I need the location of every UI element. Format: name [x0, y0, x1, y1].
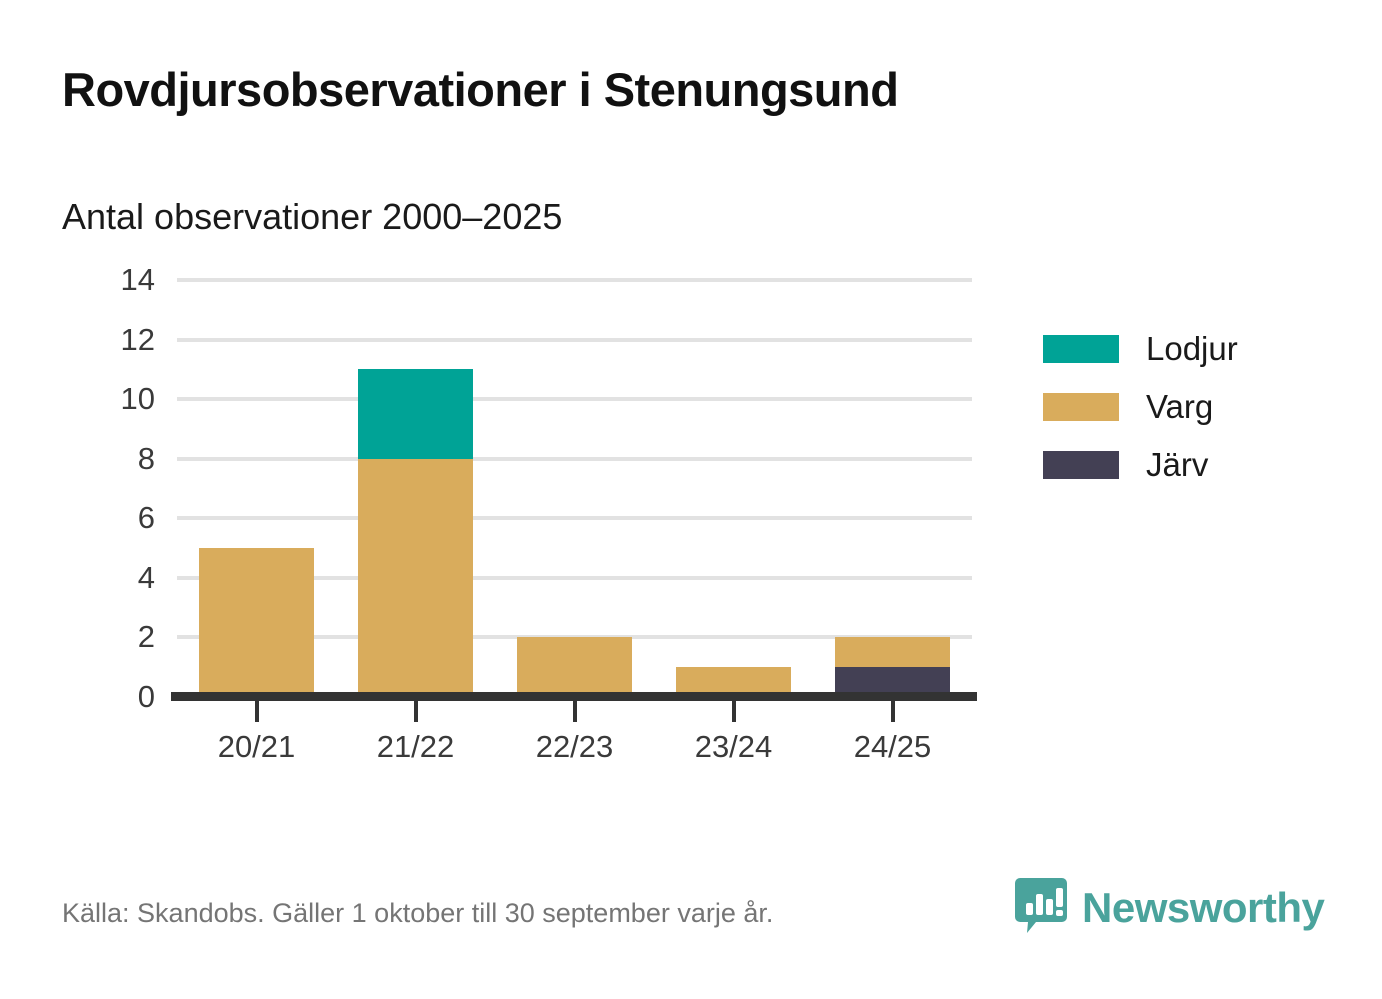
y-tick-label: 14	[60, 262, 155, 298]
x-tick-label: 24/25	[813, 729, 973, 765]
x-tick	[255, 701, 259, 722]
y-tick-label: 8	[60, 441, 155, 477]
y-tick-label: 2	[60, 619, 155, 655]
legend-item-lodjur[interactable]: Lodjur	[1043, 320, 1238, 378]
newsworthy-wordmark: Newsworthy	[1082, 884, 1324, 932]
legend-label: Järv	[1146, 446, 1208, 484]
bar-group[interactable]	[358, 280, 473, 697]
bar-group[interactable]	[199, 280, 314, 697]
x-tick-label: 22/23	[495, 729, 655, 765]
bar-segment[interactable]	[358, 369, 473, 458]
y-tick-label: 4	[60, 560, 155, 596]
bar-segment[interactable]	[835, 637, 950, 667]
x-tick-label: 21/22	[336, 729, 496, 765]
newsworthy-bubble-chart-icon	[1014, 876, 1068, 939]
y-tick-label: 12	[60, 322, 155, 358]
source-note: Källa: Skandobs. Gäller 1 oktober till 3…	[62, 898, 773, 929]
legend-label: Varg	[1146, 388, 1213, 426]
x-tick	[732, 701, 736, 722]
x-tick-label: 20/21	[177, 729, 337, 765]
x-tick	[414, 701, 418, 722]
bar-group[interactable]	[517, 280, 632, 697]
bar-segment[interactable]	[358, 459, 473, 697]
y-tick-label: 10	[60, 381, 155, 417]
x-tick	[573, 701, 577, 722]
legend-item-varg[interactable]: Varg	[1043, 378, 1238, 436]
y-tick-label: 6	[60, 500, 155, 536]
plot-area	[177, 280, 972, 697]
bar-segment[interactable]	[517, 637, 632, 697]
legend-swatch-icon	[1043, 393, 1119, 421]
bar-segment[interactable]	[199, 548, 314, 697]
x-axis-line	[171, 692, 977, 701]
chart-legend: LodjurVargJärv	[1043, 320, 1238, 494]
legend-swatch-icon	[1043, 451, 1119, 479]
x-tick-label: 23/24	[654, 729, 814, 765]
legend-swatch-icon	[1043, 335, 1119, 363]
bar-group[interactable]	[835, 280, 950, 697]
bar-group[interactable]	[676, 280, 791, 697]
y-tick-label: 0	[60, 679, 155, 715]
newsworthy-logo: Newsworthy	[1014, 876, 1324, 939]
legend-label: Lodjur	[1146, 330, 1238, 368]
x-tick	[891, 701, 895, 722]
legend-item-järv[interactable]: Järv	[1043, 436, 1238, 494]
